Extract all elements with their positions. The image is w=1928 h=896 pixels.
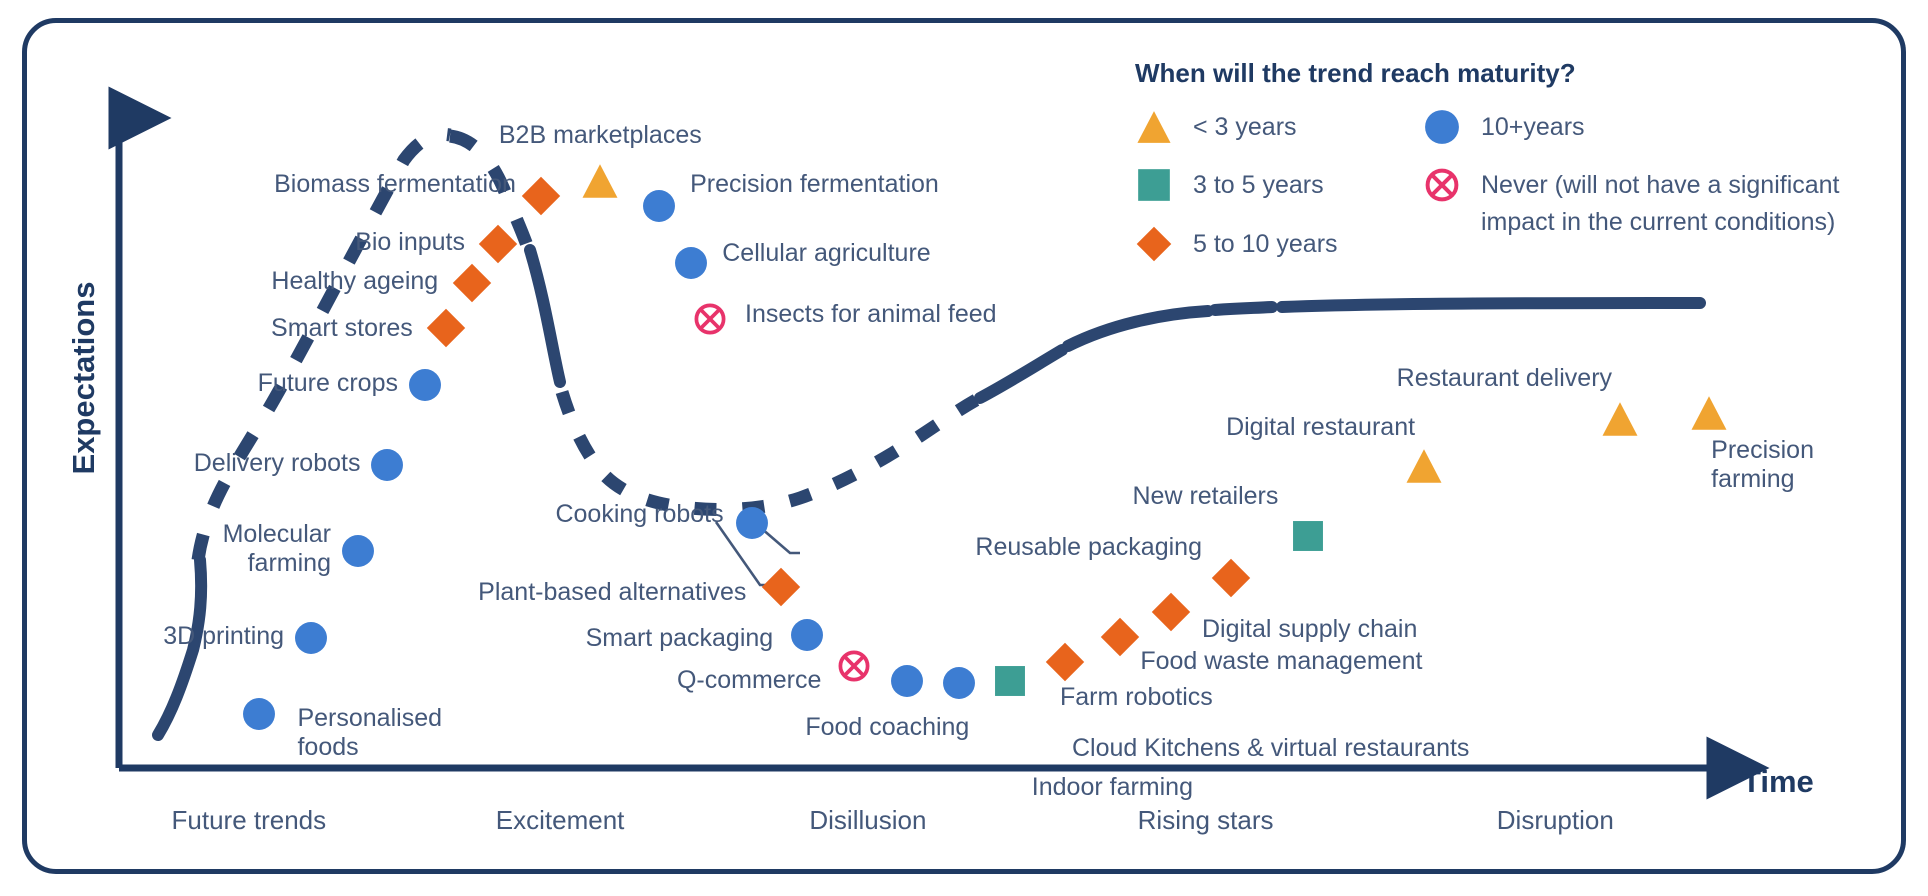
circle-marker[interactable]: [890, 664, 924, 698]
point-label: Q-commerce: [677, 666, 821, 696]
legend-item[interactable]: 3 to 5 years: [1135, 167, 1371, 203]
point-label: Restaurant delivery: [1397, 364, 1612, 394]
legend-title: When will the trend reach maturity?: [1135, 58, 1865, 89]
circle-marker[interactable]: [674, 246, 708, 280]
circle-marker: [1423, 109, 1461, 145]
point-label: Cellular agriculture: [722, 239, 930, 269]
legend-item-label: < 3 years: [1193, 109, 1297, 145]
point-label: Biomass fermentation: [274, 170, 516, 200]
circle-marker[interactable]: [642, 189, 676, 223]
point-label: Insects for animal feed: [745, 300, 997, 330]
point-label: Molecularfarming: [223, 520, 331, 579]
circle-marker[interactable]: [341, 534, 375, 568]
circle-marker[interactable]: [408, 368, 442, 402]
point-label: Smart stores: [271, 314, 413, 344]
point-label: Reusable packaging: [975, 533, 1202, 563]
point-label: Precisionfarming: [1711, 436, 1814, 495]
circle-marker[interactable]: [370, 448, 404, 482]
stage-label: Future trends: [172, 805, 327, 836]
triangle-marker[interactable]: [1690, 394, 1728, 432]
hype-cycle-chart: Personalisedfoods3D printingMolecularfar…: [0, 0, 1928, 896]
legend-item-label: Never (will not have a significant impac…: [1481, 167, 1863, 240]
triangle-marker[interactable]: [1601, 400, 1639, 438]
point-label: Plant-based alternatives: [478, 578, 746, 608]
legend-item-label: 10+years: [1481, 109, 1585, 145]
point-label: Future crops: [258, 369, 398, 399]
square-marker: [1135, 167, 1173, 203]
point-label: Precision fermentation: [690, 170, 939, 200]
point-label: Smart packaging: [586, 624, 774, 654]
legend-item[interactable]: Never (will not have a significant impac…: [1423, 167, 1863, 240]
diamond-marker[interactable]: [761, 567, 801, 607]
point-label: Bio inputs: [355, 228, 465, 258]
diamond-marker[interactable]: [1151, 592, 1191, 632]
y-axis-title: Expectations: [66, 248, 102, 508]
square-marker[interactable]: [1291, 519, 1325, 553]
never-marker[interactable]: [693, 302, 727, 336]
diamond-marker[interactable]: [521, 176, 561, 216]
square-marker[interactable]: [993, 664, 1027, 698]
legend-item-label: 3 to 5 years: [1193, 167, 1324, 203]
point-label: Personalisedfoods: [297, 704, 442, 763]
point-label: Digital supply chain: [1202, 615, 1417, 645]
x-axis-title: Time: [1742, 764, 1814, 800]
stage-label: Excitement: [496, 805, 625, 836]
legend-item[interactable]: 5 to 10 years: [1135, 226, 1371, 262]
point-label: Indoor farming: [1032, 773, 1193, 803]
point-label: Food waste management: [1140, 647, 1422, 677]
diamond-marker[interactable]: [1211, 558, 1251, 598]
diamond-marker[interactable]: [426, 308, 466, 348]
circle-marker[interactable]: [942, 666, 976, 700]
point-label: 3D printing: [163, 622, 284, 652]
circle-marker[interactable]: [790, 618, 824, 652]
point-label: Cloud Kitchens & virtual restaurants: [1072, 734, 1469, 764]
diamond-marker[interactable]: [478, 224, 518, 264]
triangle-marker[interactable]: [1405, 447, 1443, 485]
point-label: Delivery robots: [194, 449, 361, 479]
triangle-marker: [1135, 109, 1173, 145]
point-label: Farm robotics: [1060, 683, 1213, 713]
point-label: Healthy ageing: [271, 267, 438, 297]
never-marker[interactable]: [837, 649, 871, 683]
triangle-marker[interactable]: [581, 162, 619, 200]
legend-item[interactable]: 10+years: [1423, 109, 1863, 145]
circle-marker[interactable]: [242, 697, 276, 731]
stage-label: Disillusion: [809, 805, 926, 836]
legend-column-left: < 3 years3 to 5 years5 to 10 years: [1135, 109, 1371, 262]
stage-label: Disruption: [1497, 805, 1614, 836]
never-marker: [1423, 167, 1461, 203]
point-label: New retailers: [1133, 482, 1279, 512]
legend-item-label: 5 to 10 years: [1193, 226, 1338, 262]
diamond-marker[interactable]: [1045, 642, 1085, 682]
circle-marker[interactable]: [294, 621, 328, 655]
legend: When will the trend reach maturity? < 3 …: [1135, 58, 1865, 262]
point-label: B2B marketplaces: [400, 121, 800, 151]
diamond-marker: [1135, 226, 1173, 262]
diamond-marker[interactable]: [452, 263, 492, 303]
legend-column-right: 10+years Never (will not have a signific…: [1423, 109, 1863, 262]
diamond-marker[interactable]: [1100, 617, 1140, 657]
circle-marker[interactable]: [735, 506, 769, 540]
stage-label: Rising stars: [1138, 805, 1274, 836]
point-label: Cooking robots: [555, 500, 723, 530]
point-label: Food coaching: [805, 713, 969, 743]
point-label: Digital restaurant: [1226, 413, 1415, 443]
legend-item[interactable]: < 3 years: [1135, 109, 1371, 145]
